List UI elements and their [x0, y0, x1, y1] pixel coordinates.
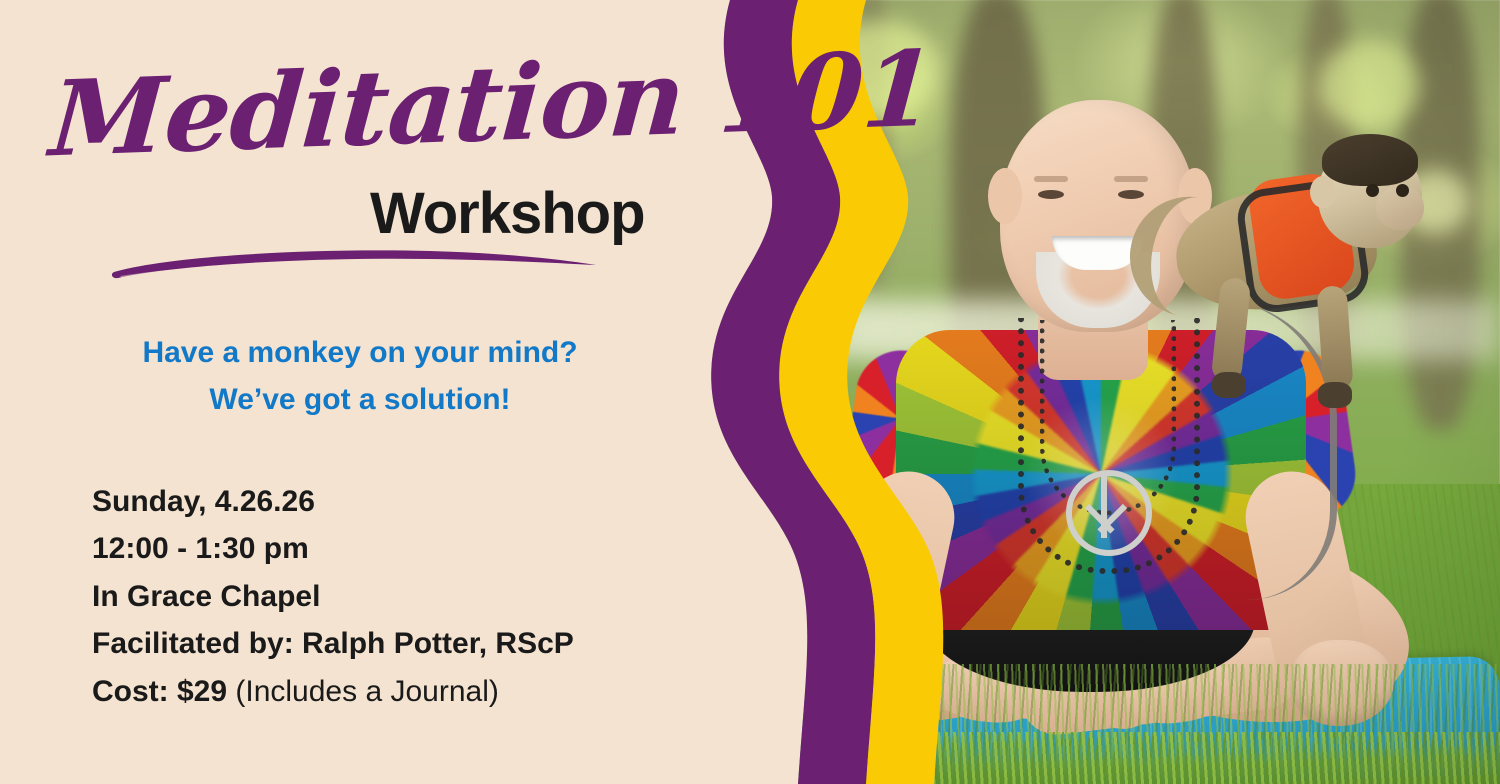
- detail-date: Sunday, 4.26.26: [92, 478, 574, 525]
- brush-stroke: [112, 250, 596, 278]
- detail-cost-amount: Cost: $29: [92, 675, 227, 708]
- brush-underline-svg: [110, 238, 600, 286]
- ear: [988, 168, 1022, 224]
- tagline-line-2: We’ve got a solution!: [60, 377, 660, 424]
- detail-cost-note: (Includes a Journal): [227, 675, 499, 708]
- page-title-script: Meditation 101: [47, 37, 938, 172]
- eyebrow: [1034, 176, 1068, 182]
- eye: [1038, 190, 1064, 199]
- eye: [1118, 190, 1144, 199]
- peace-sign-pendant: [1066, 470, 1152, 556]
- monkey-paw: [1212, 372, 1246, 398]
- detail-facilitator: Facilitated by: Ralph Potter, RScP: [92, 620, 574, 667]
- brush-underline: [110, 238, 600, 286]
- detail-cost: Cost: $29 (Includes a Journal): [92, 668, 574, 715]
- capuchin-monkey: [1170, 110, 1440, 410]
- monkey-eye: [1396, 184, 1409, 197]
- detail-time: 12:00 - 1:30 pm: [92, 525, 574, 572]
- meditation-workshop-flyer: Meditation 101 Workshop Have a monkey on…: [0, 0, 1500, 784]
- monkey-dark-cap: [1322, 134, 1418, 186]
- tagline: Have a monkey on your mind? We’ve got a …: [60, 330, 660, 423]
- eyebrow: [1114, 176, 1148, 182]
- tagline-line-1: Have a monkey on your mind?: [142, 336, 577, 369]
- event-details: Sunday, 4.26.26 12:00 - 1:30 pm In Grace…: [92, 478, 574, 715]
- detail-location: In Grace Chapel: [92, 573, 574, 620]
- monkey-paw: [1318, 382, 1352, 408]
- monkey-eye: [1366, 184, 1379, 197]
- text-panel: Meditation 101 Workshop Have a monkey on…: [0, 0, 700, 784]
- monkey-ear: [1310, 176, 1336, 208]
- page-title-sub: Workshop: [370, 180, 645, 247]
